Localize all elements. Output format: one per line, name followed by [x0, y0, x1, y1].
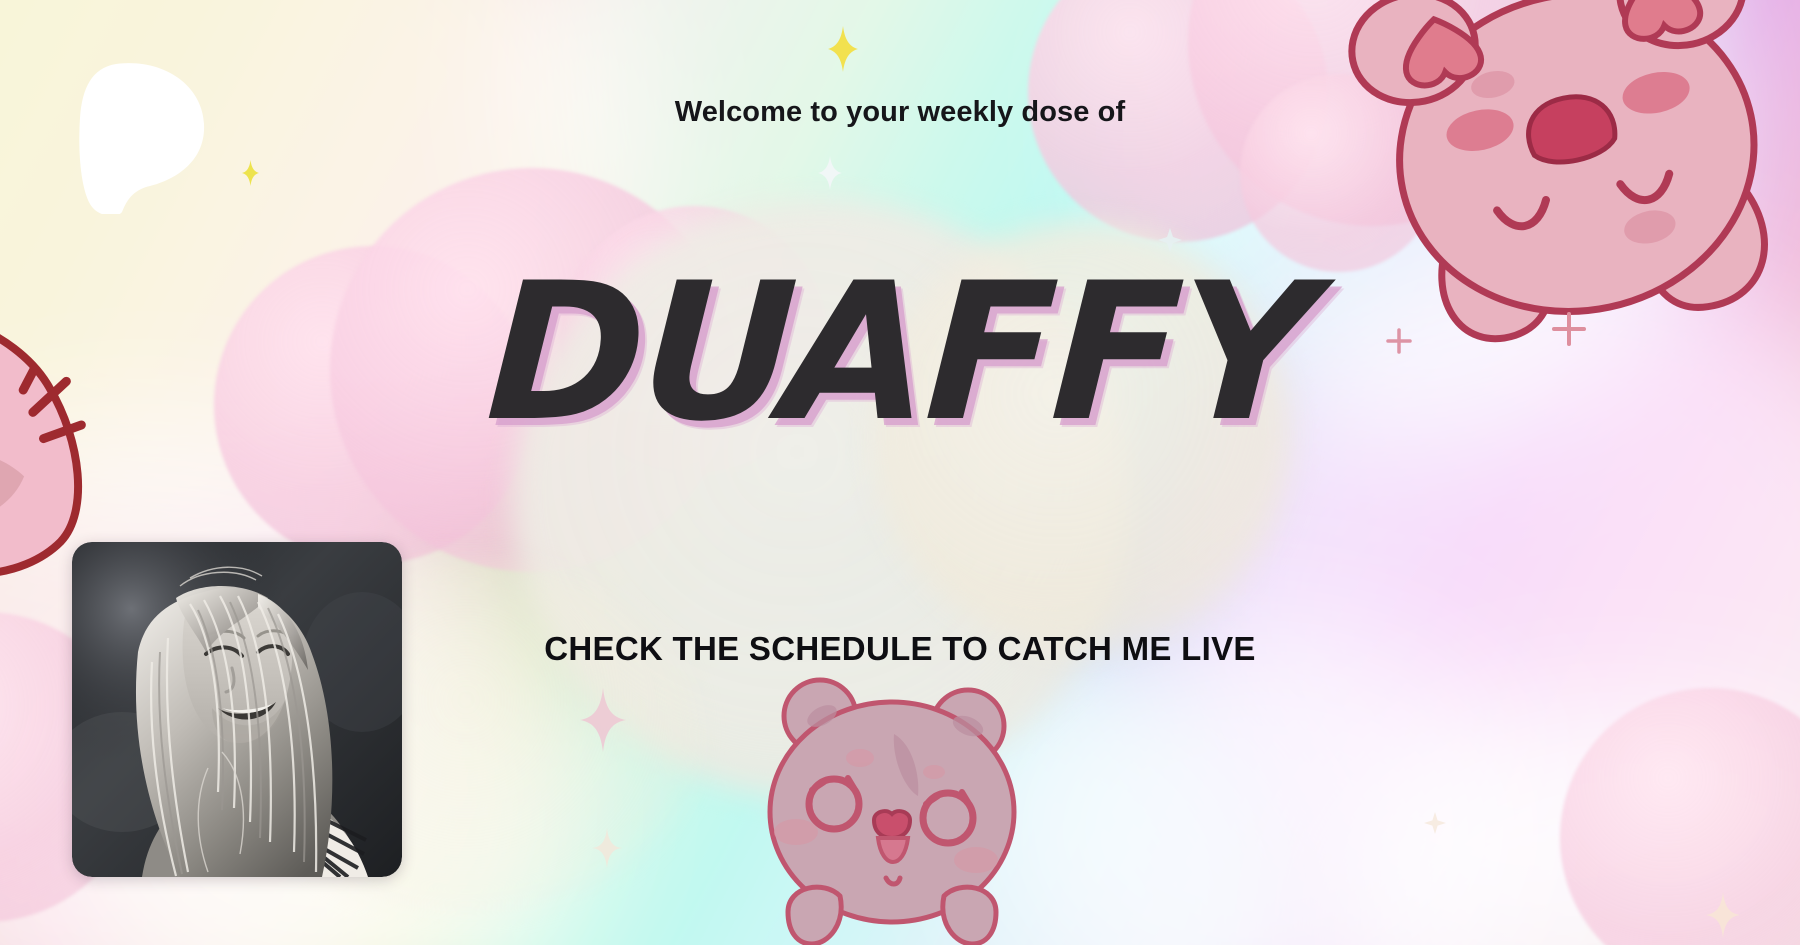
welcome-headline: Welcome to your weekly dose of [0, 96, 1800, 129]
creator-profile-photo[interactable] [72, 542, 402, 877]
star-sparkle-icon [818, 156, 842, 190]
star-sparkle-icon [580, 688, 626, 752]
patreon-logo-mark-icon[interactable] [78, 62, 206, 214]
star-sparkle-icon [1706, 892, 1740, 938]
stream-banner: Welcome to your weekly dose of DUAFFY CH… [0, 0, 1800, 945]
kawaii-hamster-bottom-icon [742, 672, 1042, 945]
channel-wordmark: DUAFFY [0, 258, 1800, 448]
star-sparkle-icon [242, 160, 259, 186]
schedule-tagline: CHECK THE SCHEDULE TO CATCH ME LIVE [0, 630, 1800, 668]
star-sparkle-icon [828, 26, 858, 72]
star-sparkle-icon [592, 828, 622, 868]
star-sparkle-icon [1424, 812, 1446, 834]
